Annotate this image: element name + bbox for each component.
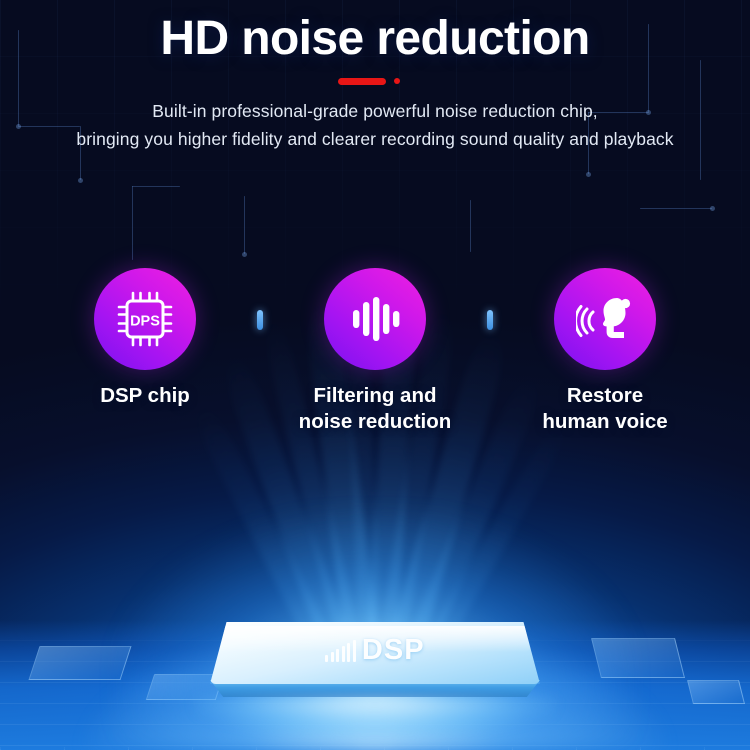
audio-waveform-icon <box>347 291 403 347</box>
chip-label: DPS <box>130 314 160 330</box>
header: HD noise reduction Built-in professional… <box>0 0 750 153</box>
striped-bars-icon <box>325 640 356 662</box>
feature-icon-circle <box>554 268 656 370</box>
feature-list: DPS DSP chip Filtering and noise red <box>0 268 750 435</box>
feature-restore-human-voice: Restore human voice <box>515 268 695 435</box>
dsp-device: DSP <box>210 622 540 706</box>
subtitle-line-2: bringing you higher fidelity and clearer… <box>0 125 750 153</box>
device-branding: DSP <box>210 634 540 667</box>
title-divider <box>330 77 420 85</box>
divider-bar <box>338 78 386 85</box>
device-reflection <box>195 698 555 732</box>
feature-label: Restore human voice <box>515 383 695 435</box>
cpu-chip-icon: DPS <box>116 290 174 348</box>
feature-icon-circle <box>324 268 426 370</box>
feature-label: Filtering and noise reduction <box>285 383 465 435</box>
page-title: HD noise reduction <box>0 11 750 68</box>
feature-filtering-noise-reduction: Filtering and noise reduction <box>285 268 465 435</box>
product-feature-poster: HD noise reduction Built-in professional… <box>0 0 750 750</box>
feature-separator-1 <box>257 310 263 330</box>
device-brand-text: DSP <box>362 634 425 667</box>
divider-dot <box>394 78 400 84</box>
feature-icon-circle: DPS <box>94 268 196 370</box>
speaking-head-icon <box>576 290 634 348</box>
feature-label: DSP chip <box>55 383 235 409</box>
subtitle-line-1: Built-in professional-grade powerful noi… <box>0 97 750 125</box>
subtitle: Built-in professional-grade powerful noi… <box>0 97 750 154</box>
feature-dsp-chip: DPS DSP chip <box>55 268 235 409</box>
feature-separator-2 <box>487 310 493 330</box>
